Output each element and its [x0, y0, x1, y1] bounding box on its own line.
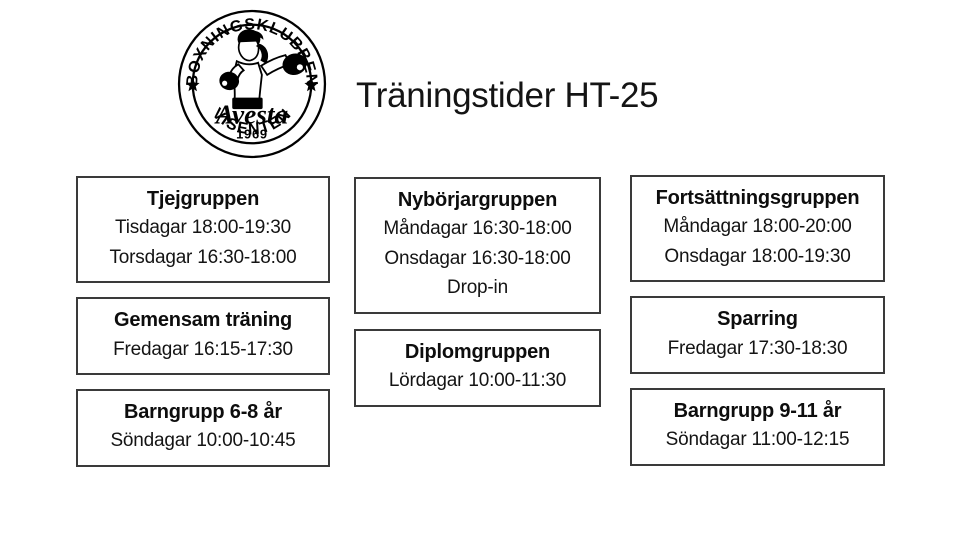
card-line: Lördagar 10:00-11:30 — [364, 366, 591, 395]
card-title: Sparring — [640, 305, 875, 333]
card-line: Drop-in — [364, 273, 591, 302]
card-title: Diplomgruppen — [364, 338, 591, 366]
card-line: Tisdagar 18:00-19:30 — [86, 213, 320, 242]
card-title: Nybörjargruppen — [364, 186, 591, 214]
card-line: Torsdagar 16:30-18:00 — [86, 243, 320, 272]
card-line: Söndagar 10:00-10:45 — [86, 426, 320, 455]
schedule-card-sparring: Sparring Fredagar 17:30-18:30 — [630, 296, 885, 374]
poster-header: BOXNINGSKLUBBEN VISENTEN — [0, 0, 960, 168]
card-title: Barngrupp 6-8 år — [86, 398, 320, 426]
schedule-card-barngrupp-6-8: Barngrupp 6-8 år Söndagar 10:00-10:45 — [76, 389, 330, 467]
card-title: Gemensam träning — [86, 306, 320, 334]
schedule-column-middle: Nybörjargruppen Måndagar 16:30-18:00 Ons… — [354, 177, 601, 422]
card-line: Söndagar 11:00-12:15 — [640, 425, 875, 454]
schedule-card-nyborjargruppen: Nybörjargruppen Måndagar 16:30-18:00 Ons… — [354, 177, 601, 314]
card-line: Måndagar 16:30-18:00 — [364, 214, 591, 243]
card-line: Onsdagar 16:30-18:00 — [364, 244, 591, 273]
club-logo: BOXNINGSKLUBBEN VISENTEN — [176, 8, 328, 160]
schedule-column-right: Fortsättningsgruppen Måndagar 18:00-20:0… — [630, 175, 885, 480]
schedule-card-barngrupp-9-11: Barngrupp 9-11 år Söndagar 11:00-12:15 — [630, 388, 885, 466]
svg-text:1969: 1969 — [236, 127, 268, 142]
page-title: Träningstider HT-25 — [356, 76, 658, 116]
card-title: Tjejgruppen — [86, 185, 320, 213]
schedule-card-fortsattningsgruppen: Fortsättningsgruppen Måndagar 18:00-20:0… — [630, 175, 885, 282]
card-line: Fredagar 16:15-17:30 — [86, 335, 320, 364]
schedule-column-left: Tjejgruppen Tisdagar 18:00-19:30 Torsdag… — [76, 176, 330, 481]
svg-text:Avesta: Avesta — [214, 100, 289, 130]
card-line: Fredagar 17:30-18:30 — [640, 334, 875, 363]
card-line: Måndagar 18:00-20:00 — [640, 212, 875, 241]
card-title: Barngrupp 9-11 år — [640, 397, 875, 425]
card-line: Onsdagar 18:00-19:30 — [640, 242, 875, 271]
schedule-card-tjejgruppen: Tjejgruppen Tisdagar 18:00-19:30 Torsdag… — [76, 176, 330, 283]
card-title: Fortsättningsgruppen — [640, 184, 875, 212]
schedule-card-gemensam-traning: Gemensam träning Fredagar 16:15-17:30 — [76, 297, 330, 375]
schedule-card-diplomgruppen: Diplomgruppen Lördagar 10:00-11:30 — [354, 329, 601, 407]
